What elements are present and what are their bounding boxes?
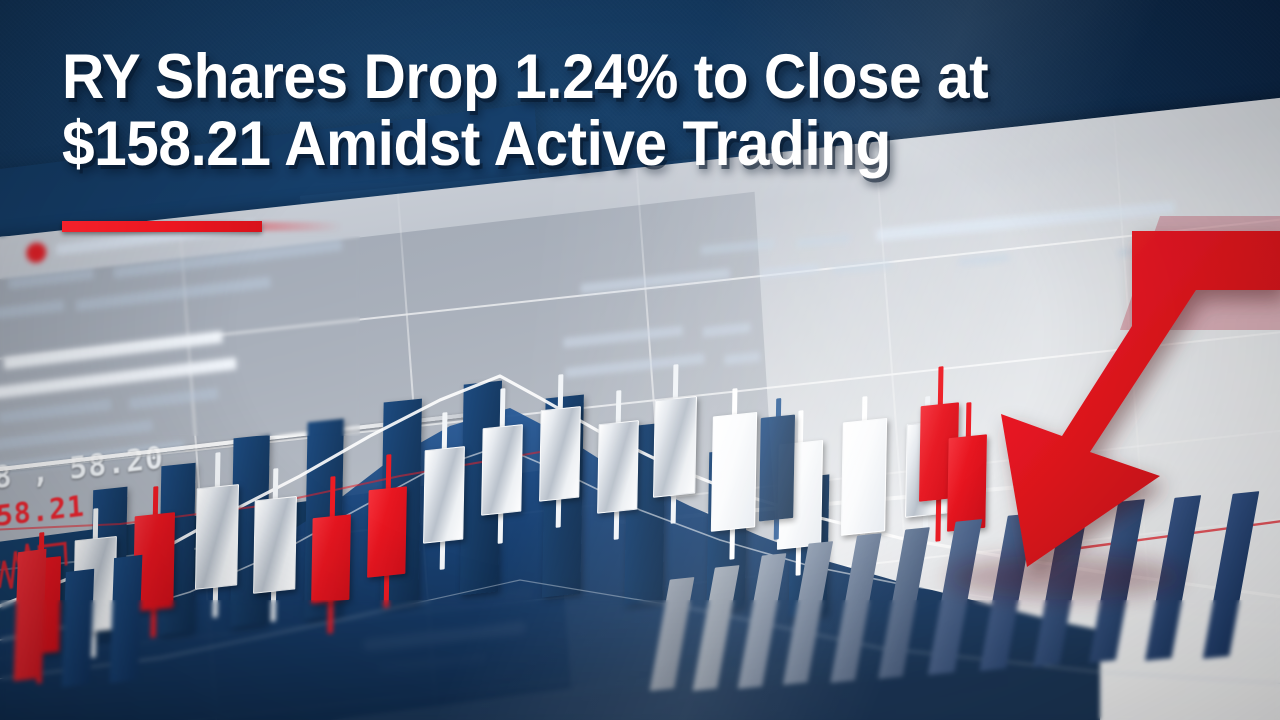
page-title: RY Shares Drop 1.24% to Close at $158.21… bbox=[62, 44, 1150, 178]
red-accent-underline bbox=[62, 221, 262, 232]
accent-bar-glow bbox=[262, 222, 342, 231]
headline-block: RY Shares Drop 1.24% to Close at $158.21… bbox=[62, 44, 1232, 178]
thumbnail-canvas: 98 , 58.20 158.21 bbox=[0, 0, 1280, 720]
